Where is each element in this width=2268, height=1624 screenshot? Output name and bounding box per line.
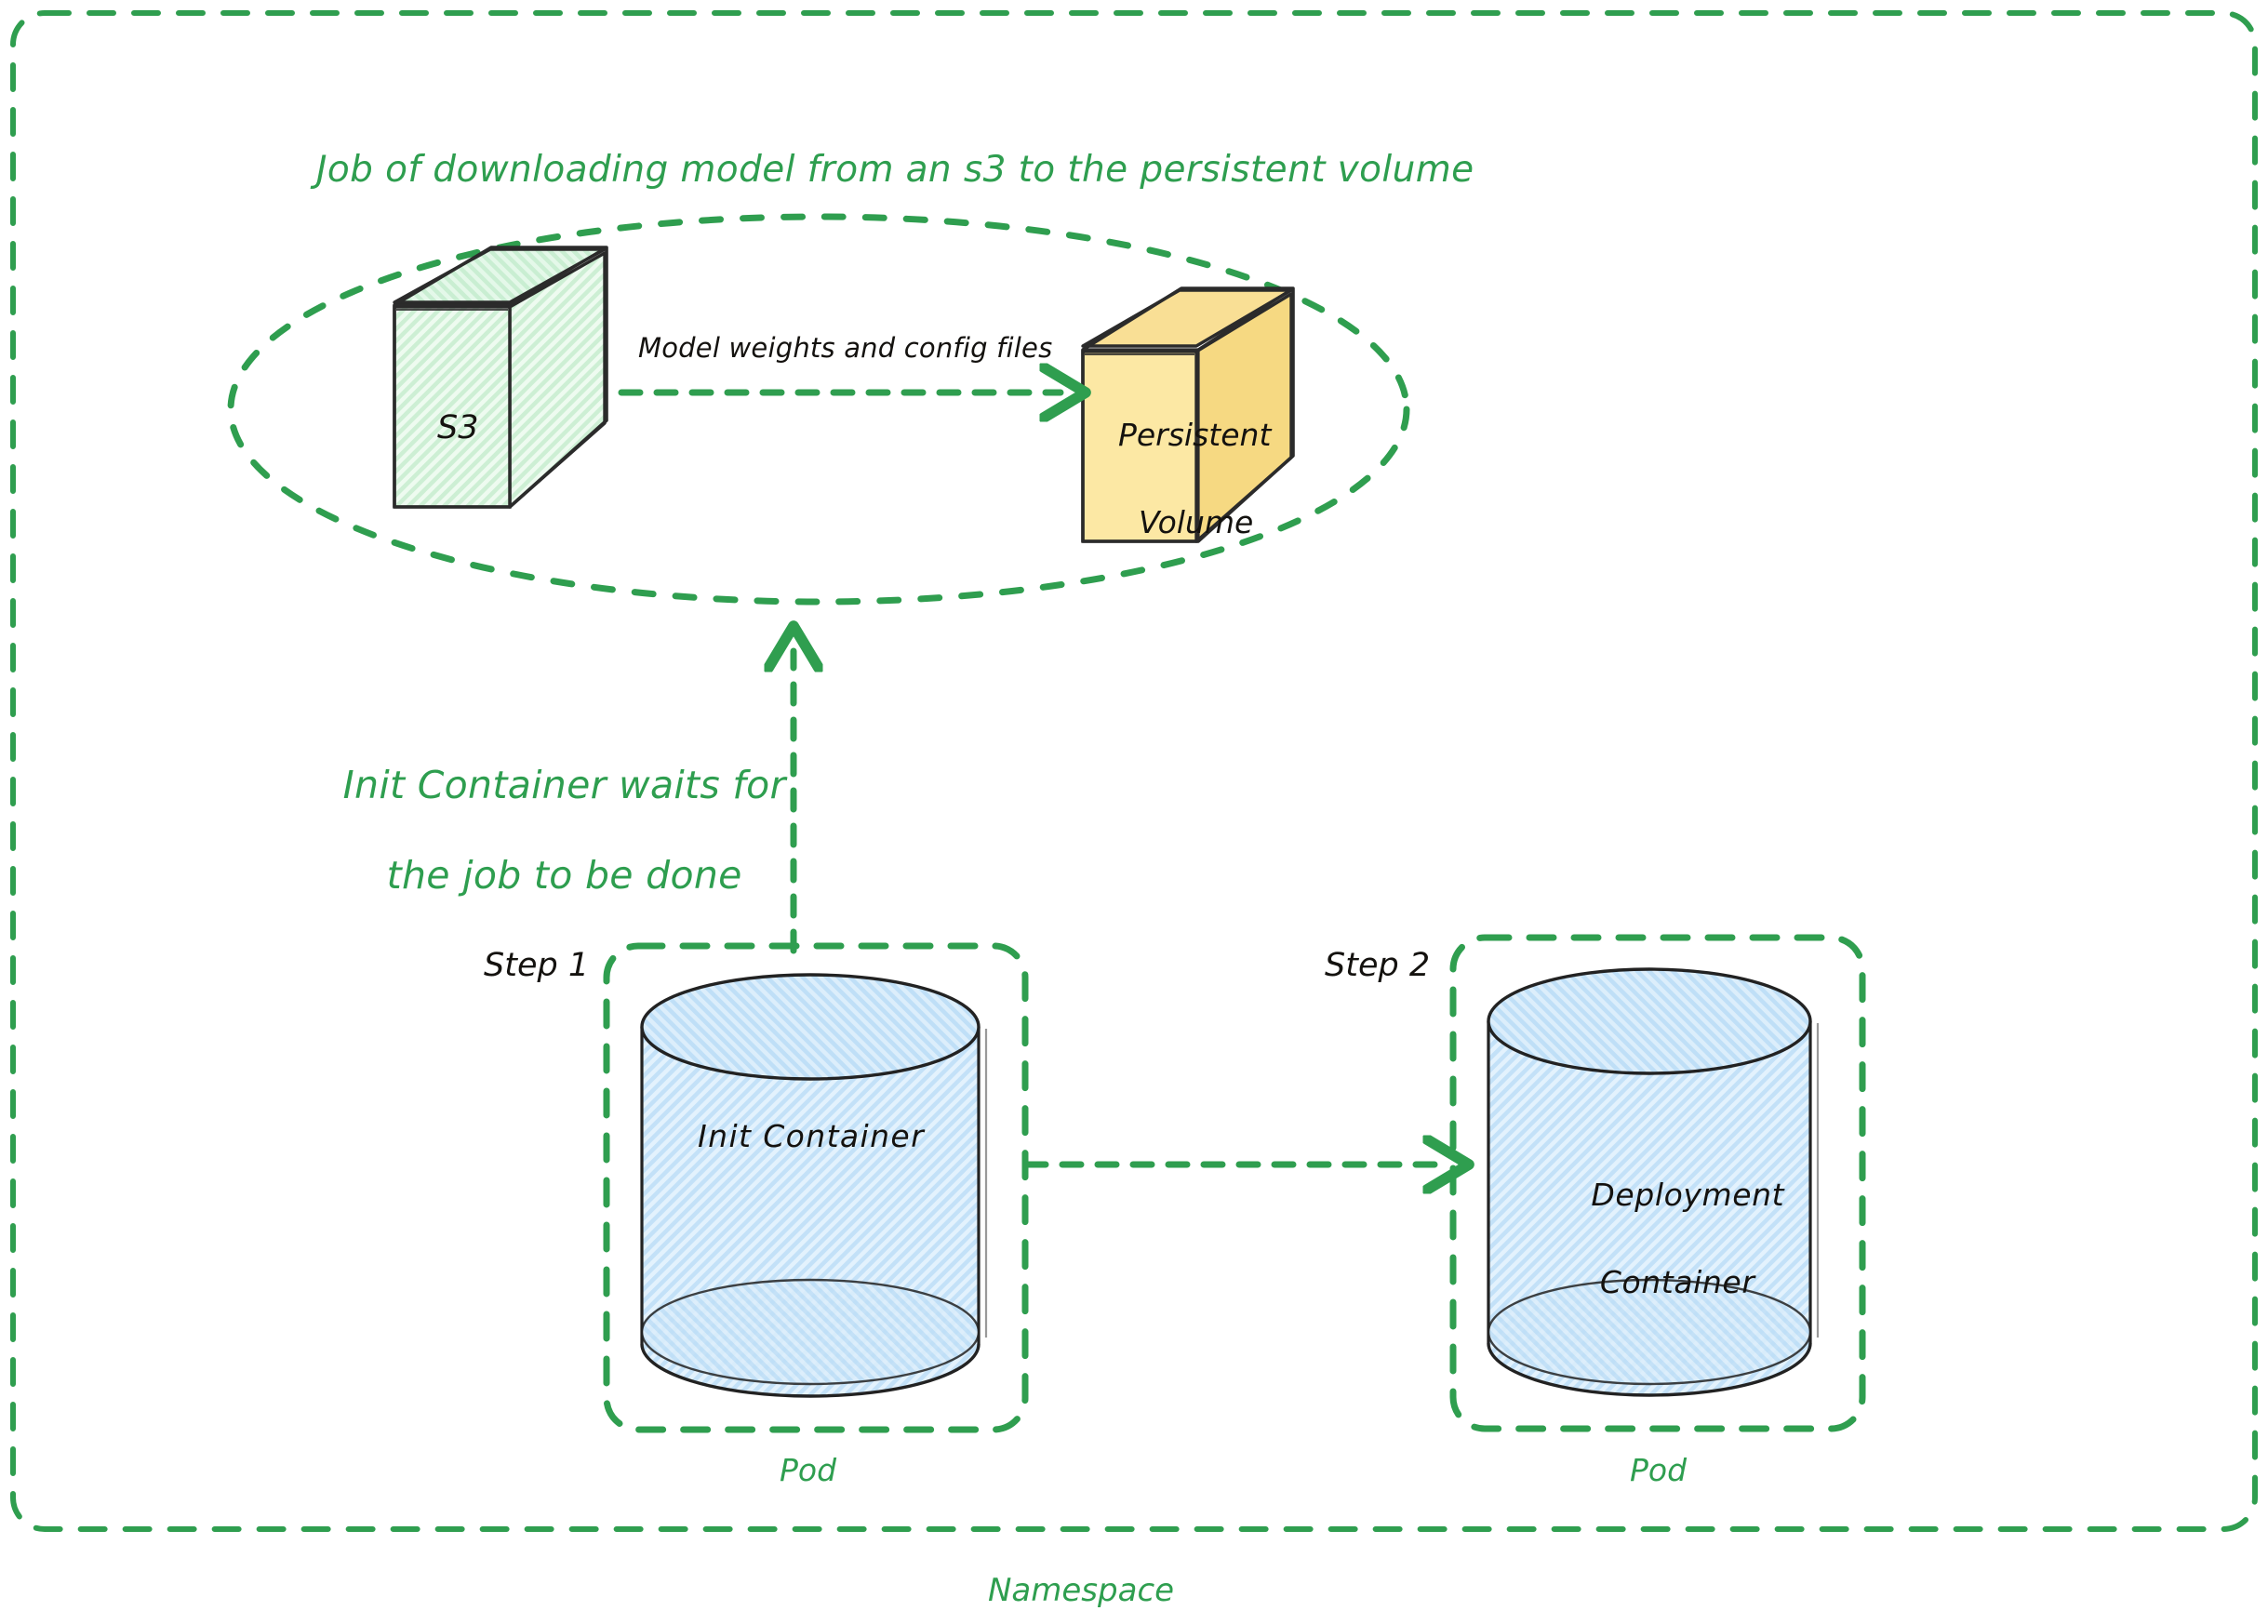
deployment-container-label: Deployment Container bbox=[1550, 1130, 1764, 1348]
pod-1-label: Pod bbox=[780, 1453, 836, 1489]
persistent-volume-label-line-1: Persistent bbox=[1118, 417, 1271, 453]
s3-cube-label: S3 bbox=[437, 409, 479, 447]
deployment-container-label-line-2: Container bbox=[1600, 1264, 1755, 1300]
step-2-label: Step 2 bbox=[1325, 947, 1430, 985]
init-container-wait-arrow-label: Init Container waits for the job to be d… bbox=[288, 718, 791, 943]
init-container-label: Init Container bbox=[698, 1119, 925, 1155]
diagram-canvas: Job of downloading model from an s3 to t… bbox=[0, 0, 2268, 1624]
persistent-volume-label-line-2: Volume bbox=[1139, 501, 1253, 545]
init-wait-line-1: Init Container waits for bbox=[343, 763, 786, 807]
init-container-cylinder bbox=[642, 975, 986, 1396]
init-wait-line-2: the job to be done bbox=[387, 853, 742, 898]
namespace-label: Namespace bbox=[988, 1572, 1174, 1609]
pod-2-label: Pod bbox=[1630, 1453, 1687, 1489]
persistent-volume-cube-label: Persistent Volume bbox=[1079, 370, 1247, 588]
deployment-container-label-line-1: Deployment bbox=[1591, 1177, 1784, 1213]
job-title-label: Job of downloading model from an s3 to t… bbox=[316, 149, 1474, 192]
model-transfer-arrow-label: Model weights and config files bbox=[638, 332, 1052, 364]
step-1-label: Step 1 bbox=[484, 947, 589, 985]
